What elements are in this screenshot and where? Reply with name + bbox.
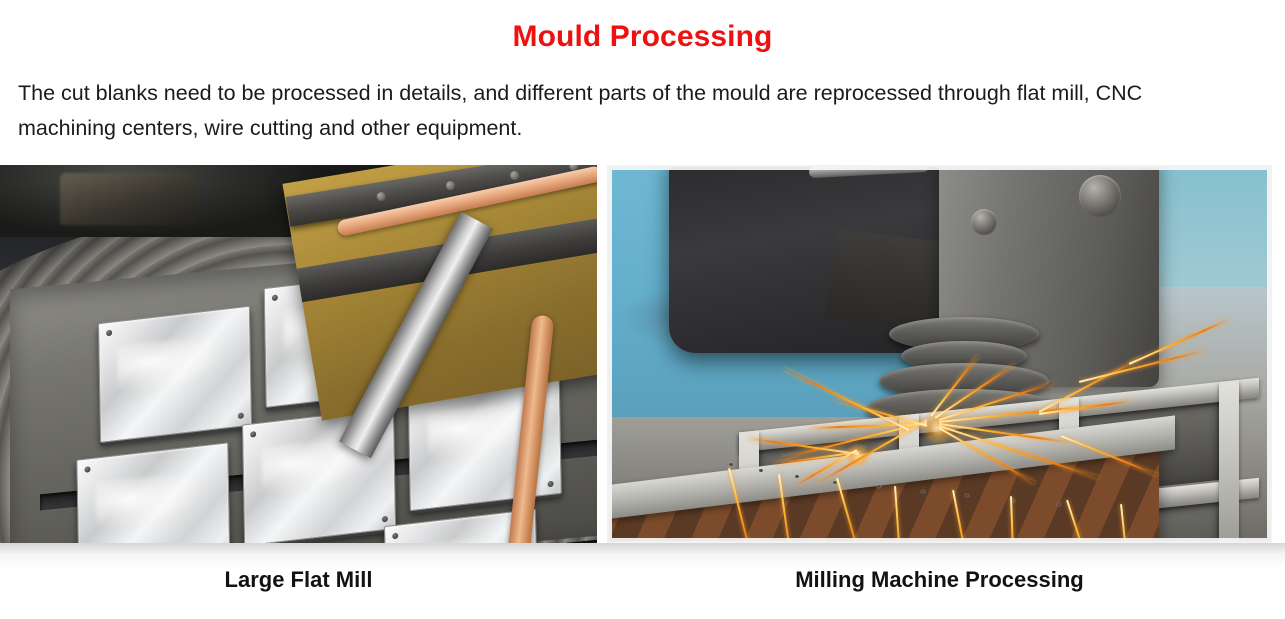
intro-paragraph: The cut blanks need to be processed in d… — [18, 76, 1208, 146]
photo-card-large-flat-mill[interactable] — [0, 165, 597, 543]
machined-plate — [98, 306, 252, 443]
page-title: Mould Processing — [0, 18, 1285, 56]
grid-rib — [1219, 380, 1239, 541]
bolt — [1079, 175, 1121, 217]
photo-gallery — [0, 165, 1285, 545]
caption-large-flat-mill: Large Flat Mill — [0, 566, 597, 594]
machined-plate — [76, 442, 230, 543]
photo-large-flat-mill — [0, 165, 597, 543]
mould-processing-page: Mould Processing The cut blanks need to … — [0, 0, 1285, 619]
photo-card-milling-machine[interactable] — [607, 165, 1272, 543]
photo-milling-machine — [609, 167, 1270, 541]
caption-milling-machine-processing: Milling Machine Processing — [607, 566, 1272, 594]
bolt — [971, 209, 997, 235]
